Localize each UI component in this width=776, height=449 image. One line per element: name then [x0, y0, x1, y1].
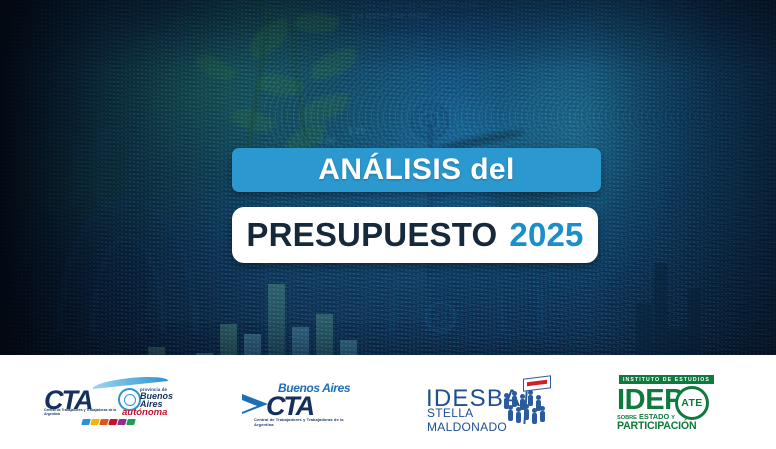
title-line-2-year: 2025	[509, 216, 583, 254]
logo-idesba: IDESBA STELLA MALDONADO	[422, 375, 554, 429]
idep-tagline-line2: PARTICIPACIÓN	[617, 420, 696, 432]
cta-autonoma-microtext: Central de Trabajadores y Trabajadoras d…	[44, 408, 118, 416]
footer-logo-bar: CTA provincia de Buenos Aires autónoma C…	[0, 355, 776, 449]
cta-autonoma-word: autónoma	[122, 407, 167, 418]
crowd-icon	[502, 379, 550, 425]
title-line-1: ANÁLISIS del	[318, 153, 515, 187]
logo-idep-ate: INSTITUTO DE ESTUDIOS IDEP ATE SOBRE EST…	[612, 373, 740, 431]
title-banner-primary: ANÁLISIS del	[232, 148, 601, 192]
title-line-2-main: PRESUPUESTO	[246, 216, 497, 254]
poster-root: 00 Soy capaz de sentirme viva y a quien …	[0, 0, 776, 449]
title-banner-secondary: PRESUPUESTO 2025	[232, 207, 598, 263]
logo-cta-autonoma: CTA provincia de Buenos Aires autónoma C…	[36, 374, 176, 430]
ate-badge: ATE	[675, 386, 709, 420]
arrow-icon	[242, 394, 268, 414]
cta-ba-microtext: Central de Trabajadores y Trabajadoras d…	[254, 417, 364, 427]
idep-instituto-label: INSTITUTO DE ESTUDIOS	[619, 375, 714, 384]
logo-cta-buenos-aires: Buenos Aires CTA Central de Trabajadores…	[234, 376, 364, 428]
flag-strip-icon	[82, 419, 135, 425]
